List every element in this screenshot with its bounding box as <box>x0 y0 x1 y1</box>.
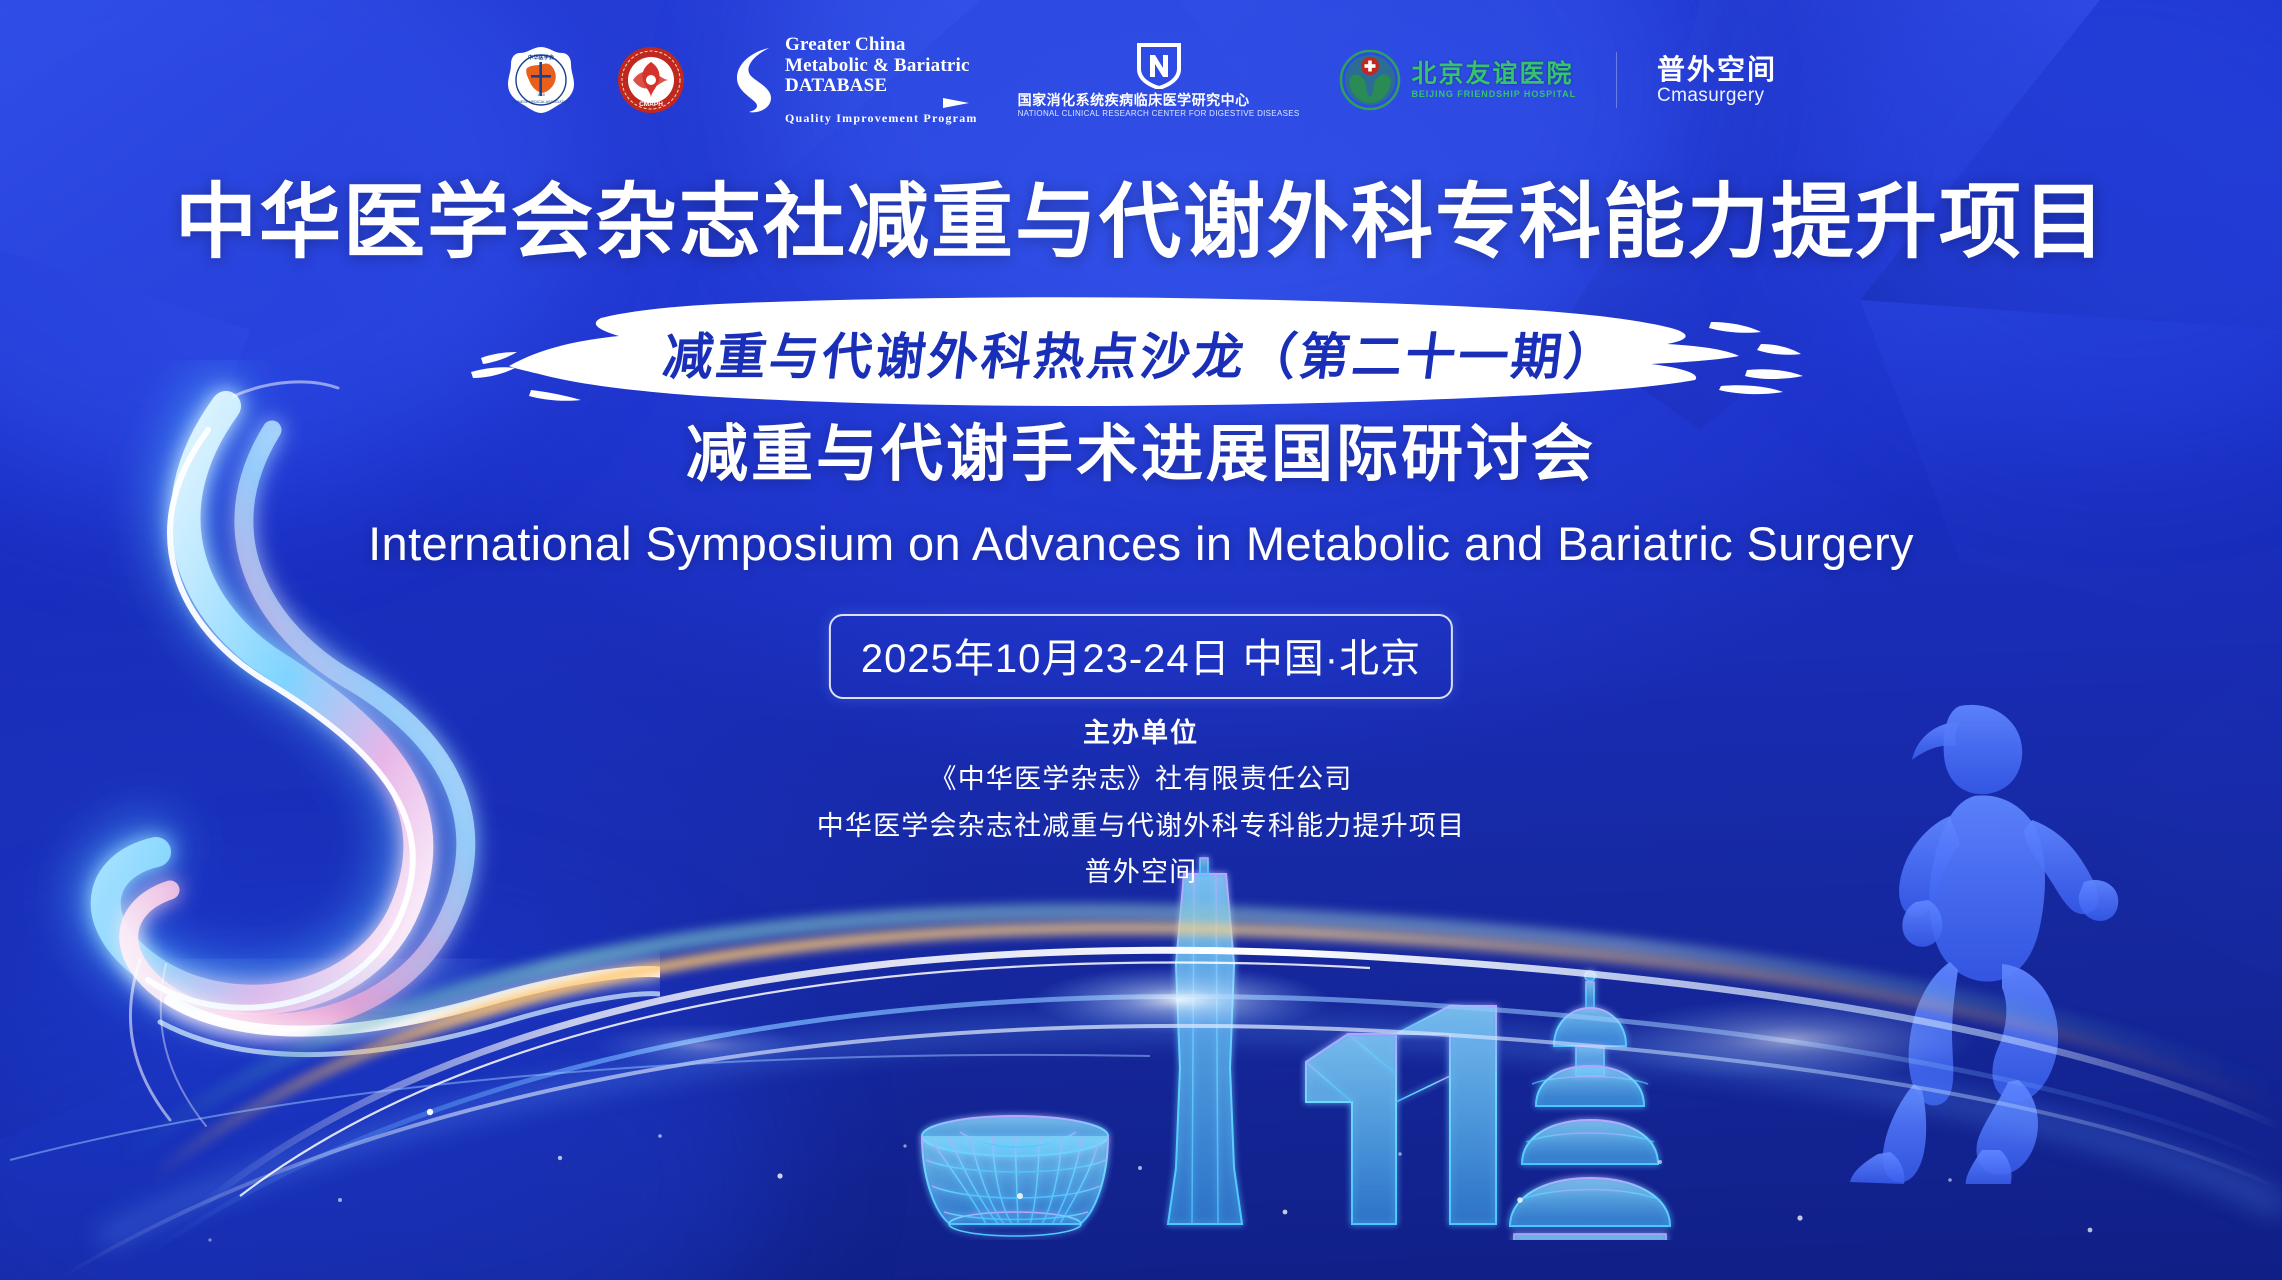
greater-china-metabolic-bariatric-database-logo: Greater China Metabolic & Bariatric DATA… <box>725 38 978 122</box>
gcmbd-line3: DATABASE <box>785 76 978 97</box>
brush-subtitle-text: 减重与代谢外科热点沙龙（第二十一期） <box>660 317 1623 389</box>
nccrc-en-label: NATIONAL CLINICAL RESEARCH CENTER FOR DI… <box>1018 110 1300 118</box>
gcmbd-swoosh-icon <box>725 44 779 116</box>
nccrc-cn-label: 国家消化系统疾病临床医学研究中心 <box>1018 93 1300 107</box>
nccrc-shield-icon <box>1135 43 1183 89</box>
cmasurgery-logo: 普外空间 Cmasurgery <box>1657 38 1777 122</box>
gcmbd-line1: Greater China <box>785 35 978 56</box>
sparkle-particles <box>0 900 2282 1280</box>
gcmbd-text-block: Greater China Metabolic & Bariatric DATA… <box>785 35 978 125</box>
national-clinical-research-center-logo: 国家消化系统疾病临床医学研究中心 NATIONAL CLINICAL RESEA… <box>1018 38 1300 122</box>
svg-text:1915: 1915 <box>537 93 545 97</box>
nccrc-text-block: 国家消化系统疾病临床医学研究中心 NATIONAL CLINICAL RESEA… <box>1018 43 1300 118</box>
date-location-badge: 2025年10月23-24日 中国·北京 <box>829 614 1453 699</box>
brush-subtitle-banner: 减重与代谢外科热点沙龙（第二十一期） <box>0 288 2282 418</box>
organizer-line-2: 中华医学会杂志社减重与代谢外科专科能力提升项目 <box>0 803 2282 849</box>
bfh-cn-label: 北京友谊医院 <box>1411 62 1576 87</box>
gcmbd-tagline: Quality Improvement Program <box>785 112 978 125</box>
organizer-line-1: 《中华医学杂志》社有限责任公司 <box>0 756 2282 802</box>
organizer-line-3: 普外空间 <box>0 849 2282 895</box>
conference-poster: 中华医学会 CHINESE MEDICAL ASSOCIATION 1915 C… <box>0 0 2282 1280</box>
bfh-en-label: BEIJING FRIENDSHIP HOSPITAL <box>1411 90 1576 99</box>
gcmbd-line2: Metabolic & Bariatric <box>785 56 978 77</box>
logo-divider <box>1616 52 1617 108</box>
organizers-block: 主办单位 《中华医学杂志》社有限责任公司 中华医学会杂志社减重与代谢外科专科能力… <box>0 710 2282 896</box>
svg-text:CHINESE MEDICAL ASSOCIATION: CHINESE MEDICAL ASSOCIATION <box>512 100 570 104</box>
chinese-medical-association-logo: 中华医学会 CHINESE MEDICAL ASSOCIATION 1915 <box>505 38 577 122</box>
beijing-friendship-hospital-logo: 北京友谊医院 BEIJING FRIENDSHIP HOSPITAL <box>1339 38 1576 122</box>
cmasurgery-text-block: 普外空间 Cmasurgery <box>1657 56 1777 105</box>
svg-text:CMAPH: CMAPH <box>639 101 663 108</box>
light-streaks-graphic <box>0 860 2282 1280</box>
cmaph-emblem-icon: CMAPH <box>617 46 685 114</box>
cma-emblem-icon: 中华医学会 CHINESE MEDICAL ASSOCIATION 1915 <box>505 44 577 116</box>
event-title-chinese: 减重与代谢手术进展国际研讨会 <box>0 424 2282 486</box>
organizers-heading: 主办单位 <box>0 710 2282 756</box>
main-project-title: 中华医学会杂志社减重与代谢外科专科能力提升项目 <box>0 182 2282 264</box>
sponsor-logo-strip: 中华医学会 CHINESE MEDICAL ASSOCIATION 1915 C… <box>0 38 2282 122</box>
event-title-english: International Symposium on Advances in M… <box>0 516 2282 572</box>
svg-text:中华医学会: 中华医学会 <box>528 53 555 61</box>
cmaph-logo: CMAPH <box>617 38 685 122</box>
bfh-text-block: 北京友谊医院 BEIJING FRIENDSHIP HOSPITAL <box>1411 62 1576 99</box>
bfh-emblem-icon <box>1339 49 1401 111</box>
gcmbd-arrow-icon <box>785 97 970 109</box>
cmasurgery-cn-label: 普外空间 <box>1657 56 1777 84</box>
glow-bottom-left <box>0 920 780 1280</box>
cmasurgery-en-label: Cmasurgery <box>1657 86 1777 105</box>
